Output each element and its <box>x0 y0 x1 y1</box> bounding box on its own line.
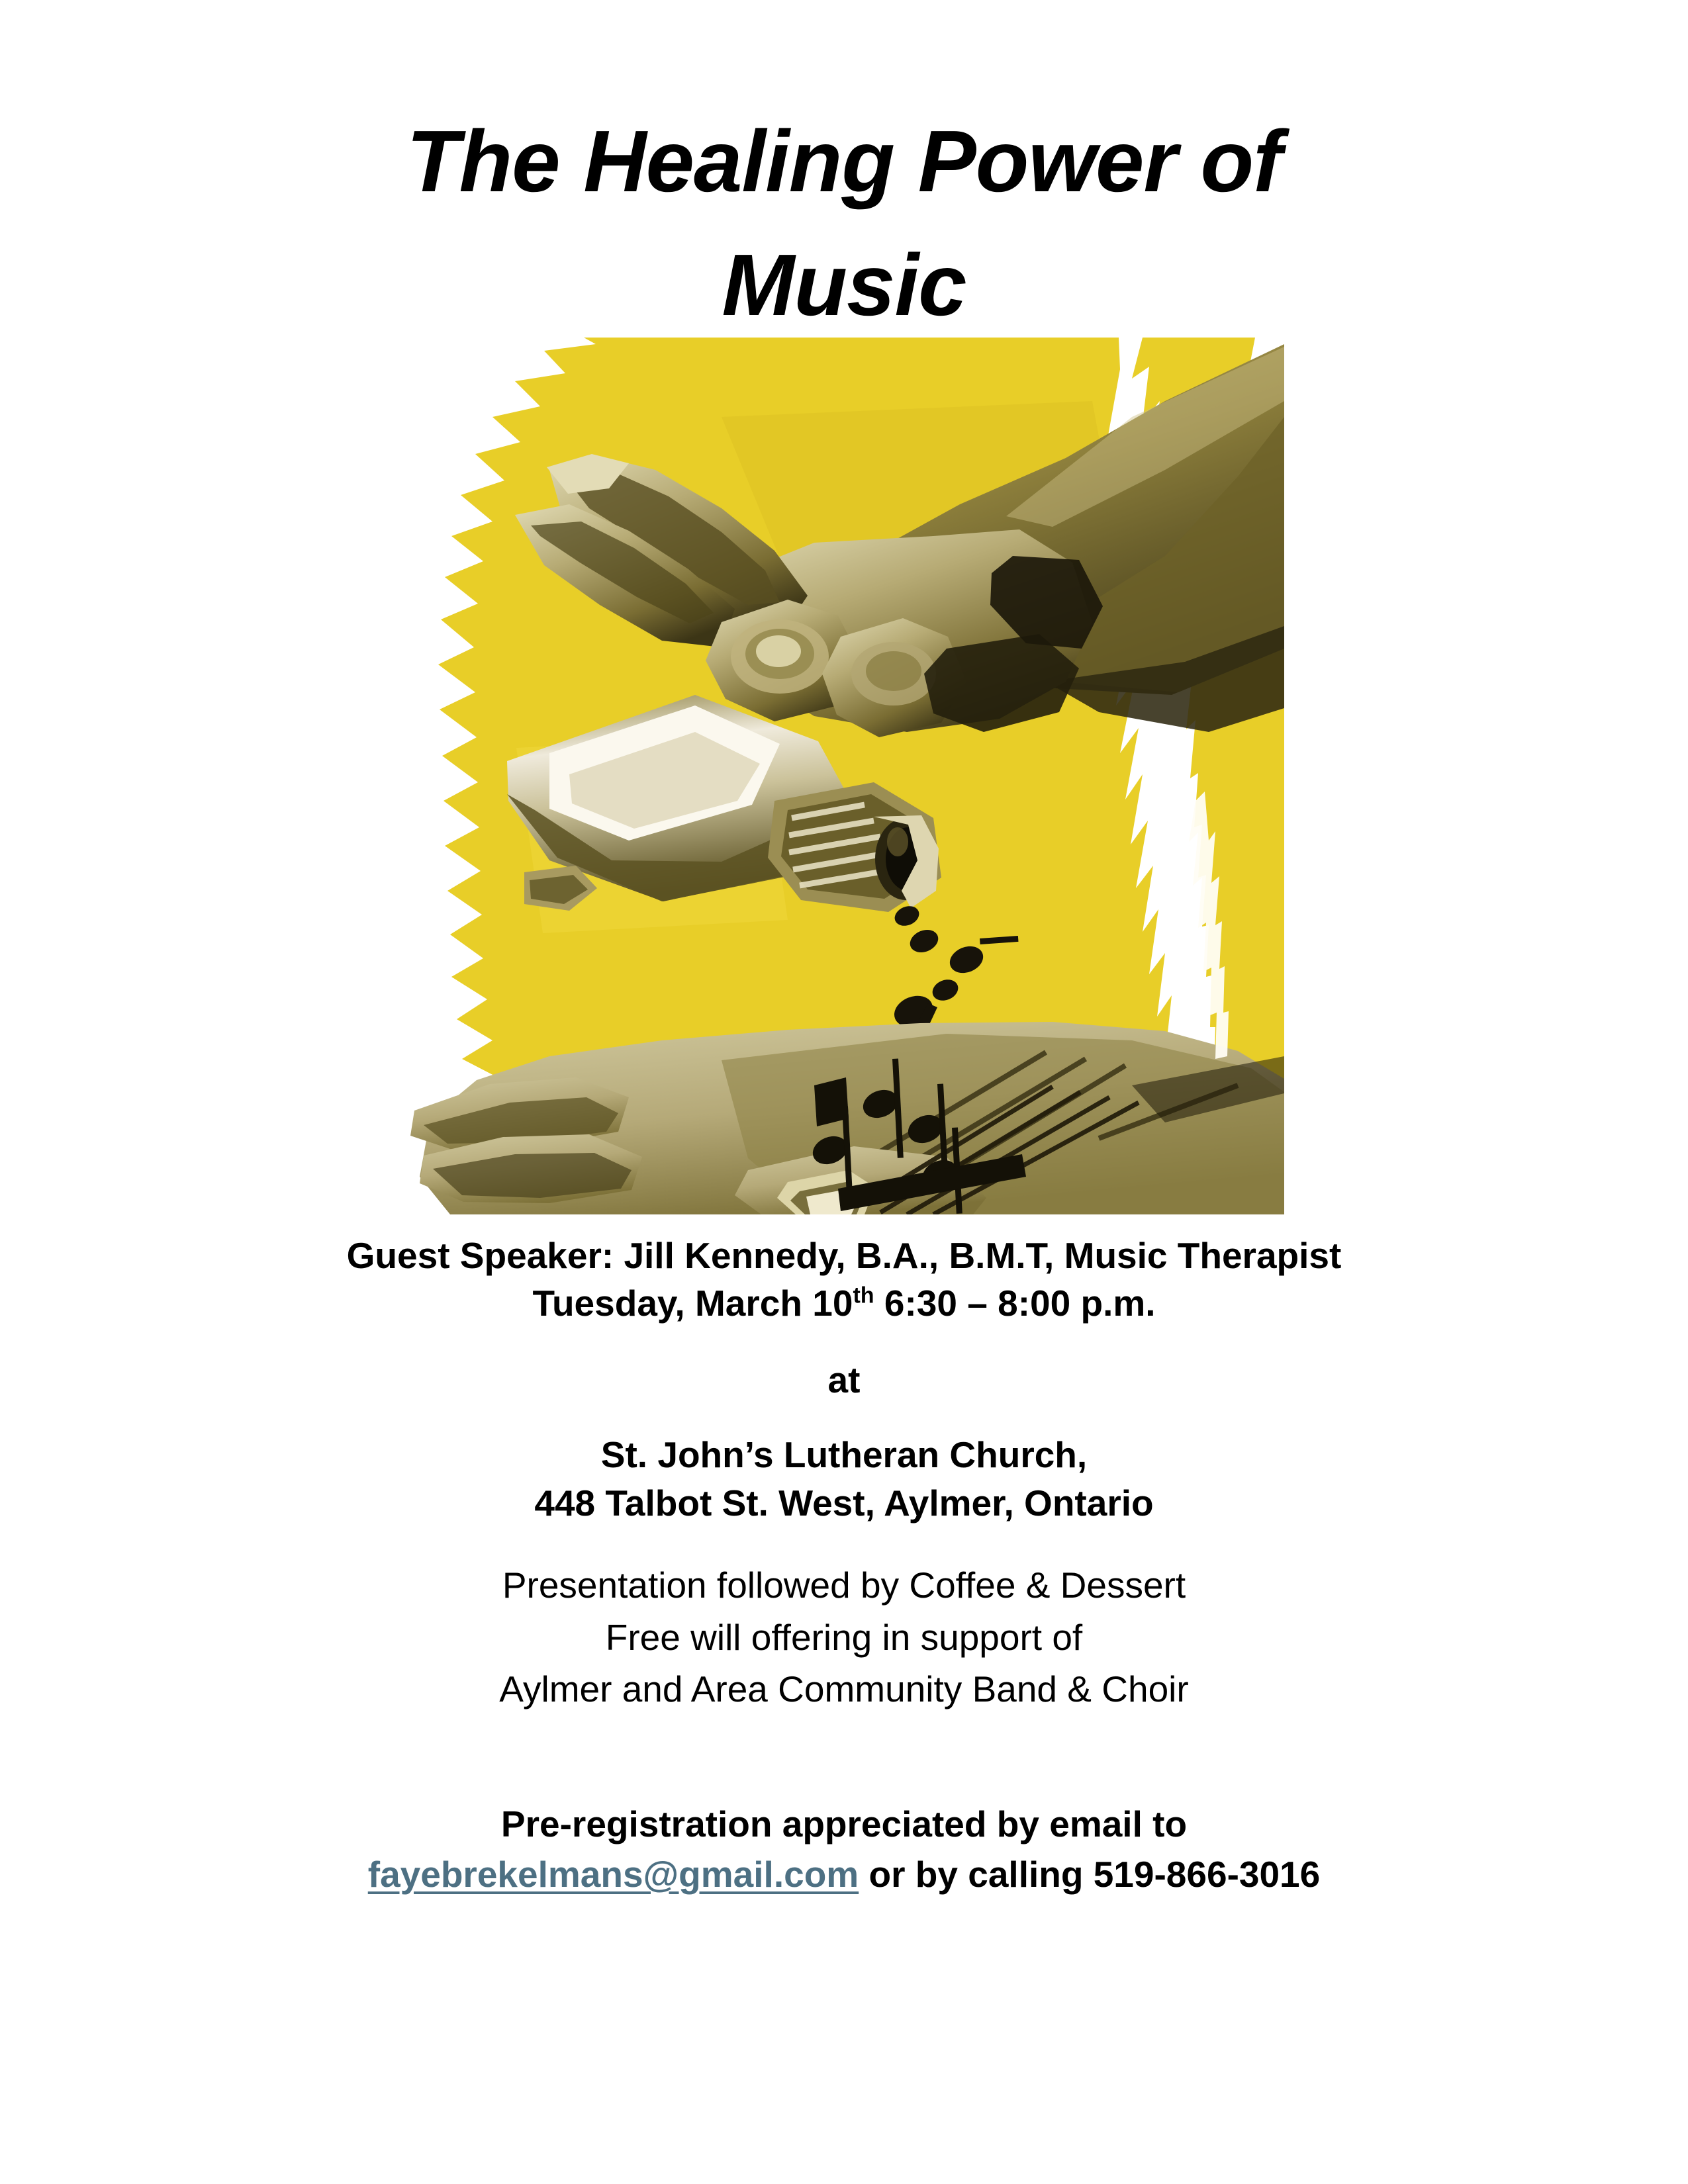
spacer-before-registration <box>0 1715 1688 1799</box>
date-time-line: Tuesday, March 10th 6:30 – 8:00 p.m. <box>0 1280 1688 1328</box>
date-prefix: Tuesday, March 10 <box>532 1283 853 1324</box>
venue-name: St. John’s Lutheran Church, <box>0 1431 1688 1479</box>
phone-text: or by calling 519-866-3016 <box>859 1854 1320 1895</box>
registration-line: Pre-registration appreciated by email to <box>0 1799 1688 1850</box>
title-line-1: The Healing Power of <box>0 99 1688 223</box>
at-word: at <box>0 1356 1688 1404</box>
healing-music-illustration <box>351 338 1284 1214</box>
poster-text-zone: Guest Speaker: Jill Kennedy, B.A., B.M.T… <box>0 1232 1688 1899</box>
email-link[interactable]: fayebrekelmans@gmail.com <box>368 1854 859 1895</box>
poster-title: The Healing Power of Music <box>0 99 1688 347</box>
detail-line-coffee: Presentation followed by Coffee & Desser… <box>0 1559 1688 1611</box>
detail-line-beneficiary: Aylmer and Area Community Band & Choir <box>0 1663 1688 1715</box>
spacer-before-at <box>0 1327 1688 1356</box>
title-line-2: Music <box>0 223 1688 347</box>
spacer-before-details <box>0 1527 1688 1559</box>
poster-page: The Healing Power of Music <box>0 0 1688 2184</box>
speaker-line: Guest Speaker: Jill Kennedy, B.A., B.M.T… <box>0 1232 1688 1280</box>
illustration-svg <box>351 338 1284 1214</box>
date-ordinal-suffix: th <box>853 1283 874 1308</box>
detail-line-offering: Free will offering in support of <box>0 1612 1688 1663</box>
venue-address: 448 Talbot St. West, Aylmer, Ontario <box>0 1479 1688 1527</box>
time-range: 6:30 – 8:00 p.m. <box>874 1283 1156 1324</box>
contact-line: fayebrekelmans@gmail.com or by calling 5… <box>0 1850 1688 1900</box>
spacer-before-venue <box>0 1404 1688 1431</box>
